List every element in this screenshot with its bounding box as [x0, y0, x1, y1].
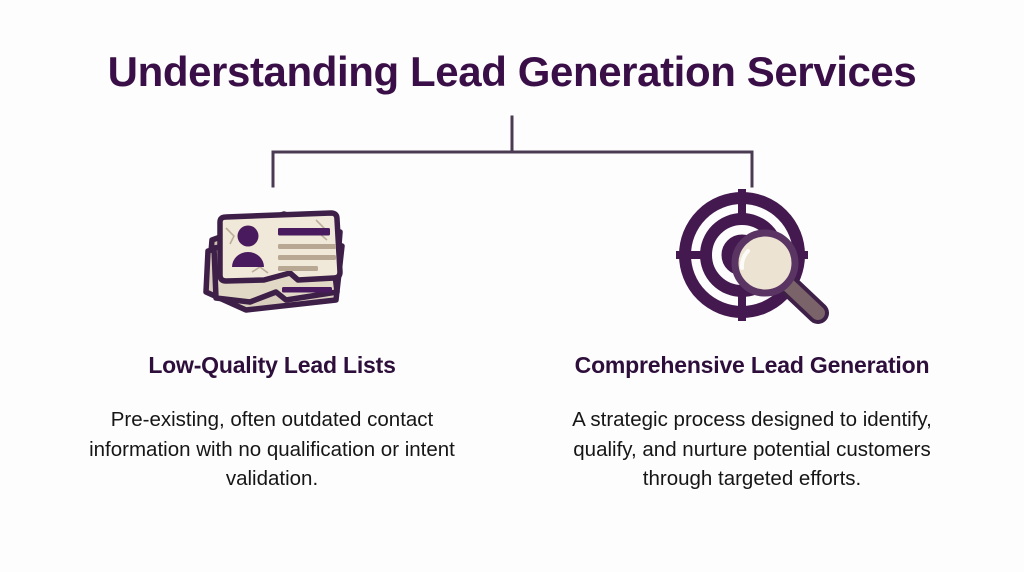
column-comprehensive-lead-generation: Comprehensive Lead Generation A strategi… [522, 180, 982, 494]
column-body-left: Pre-existing, often outdated contact inf… [42, 405, 502, 494]
stacked-business-cards-icon [190, 188, 355, 323]
card-line-title [278, 228, 330, 236]
slide-canvas: Understanding Lead Generation Services [0, 0, 1024, 572]
card-line-3 [278, 266, 318, 271]
card-line-1 [278, 244, 336, 249]
column-body-right: A strategic process designed to identify… [522, 405, 982, 494]
card-back-line [282, 287, 332, 293]
column-heading-left: Low-Quality Lead Lists [42, 352, 502, 379]
card-line-2 [278, 255, 336, 260]
target-crosshair-magnifier-icon [672, 185, 832, 325]
column-low-quality-lead-lists: Low-Quality Lead Lists Pre-existing, oft… [42, 180, 502, 494]
icon-container-left [42, 180, 502, 330]
page-title: Understanding Lead Generation Services [0, 48, 1024, 96]
magnifier-lens [735, 233, 795, 293]
column-heading-right: Comprehensive Lead Generation [522, 352, 982, 379]
icon-container-right [522, 180, 982, 330]
